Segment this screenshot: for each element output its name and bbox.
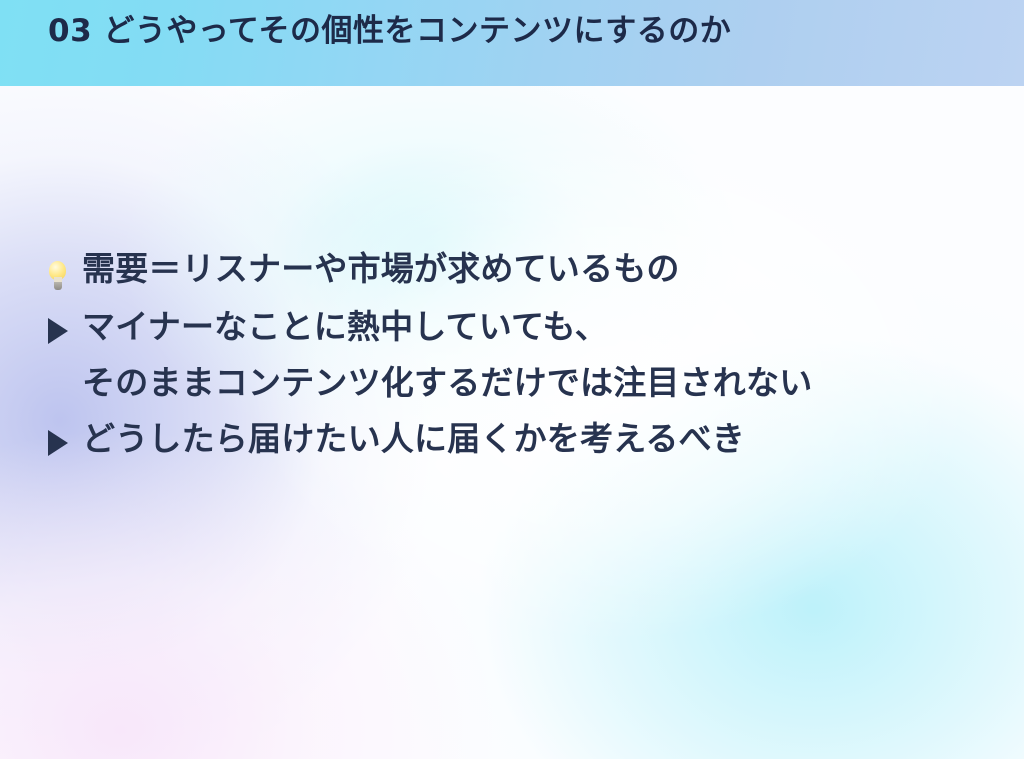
bullet-item: 需要＝リスナーや市場が求めているもの — [48, 252, 978, 287]
lightbulb-icon — [48, 256, 82, 291]
triangle-right-icon — [48, 424, 82, 455]
slide-body-bullet-list: 需要＝リスナーや市場が求めているもの マイナーなことに熱中していても、 そのまま… — [48, 252, 978, 455]
slide-header-band: 03 どうやってその個性をコンテンツにするのか — [0, 0, 1024, 86]
triangle-right-icon — [48, 312, 82, 343]
slide-title: 03 どうやってその個性をコンテンツにするのか — [48, 12, 731, 51]
bullet-item-continuation: そのままコンテンツ化するだけでは注目されない — [48, 366, 978, 399]
bullet-item: どうしたら届けたい人に届くかを考えるべき — [48, 422, 978, 455]
bullet-text: どうしたら届けたい人に届くかを考えるべき — [82, 422, 745, 455]
presentation-slide: 03 どうやってその個性をコンテンツにするのか 需要＝リスナーや市場が求めている… — [0, 0, 1024, 759]
bullet-text: そのままコンテンツ化するだけでは注目されない — [82, 366, 812, 399]
bullet-text: マイナーなことに熱中していても、 — [82, 310, 608, 343]
bullet-item: マイナーなことに熱中していても、 — [48, 310, 978, 343]
bullet-text: 需要＝リスナーや市場が求めているもの — [82, 252, 680, 285]
